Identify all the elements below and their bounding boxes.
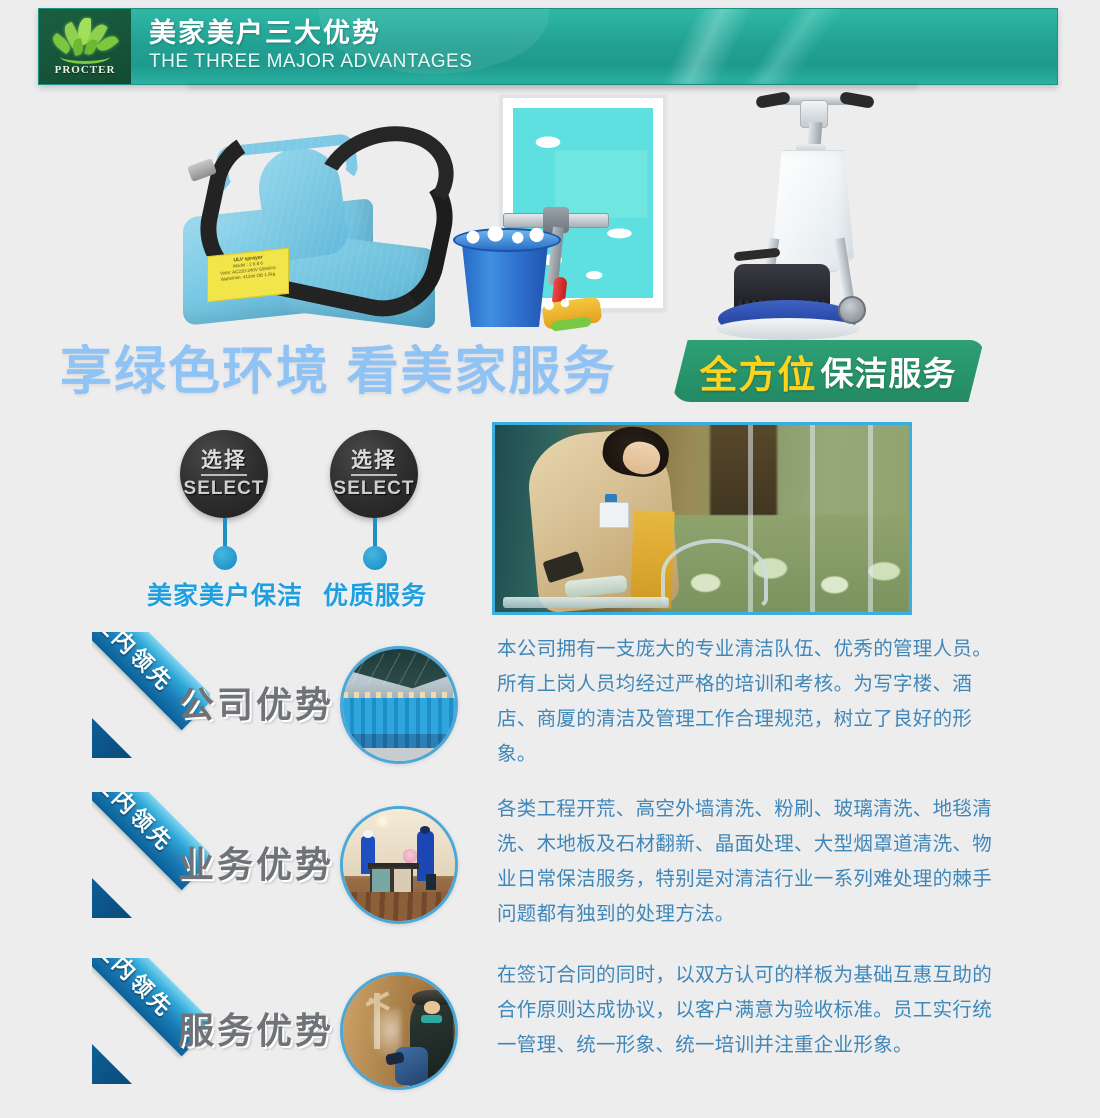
hero-photo [492, 422, 912, 615]
header-sheen-secondary-icon [597, 9, 897, 85]
advantage-row-2: 业内领先 业务优势 各类工程开荒、高空外墙清洗、粉刷、玻璃清洗、地毯清洗、木地板… [0, 792, 1100, 952]
ribbon-text: 业内领先 [92, 632, 182, 698]
select-cn-text: 选择 [201, 449, 247, 476]
select-cn-text: 选择 [351, 449, 397, 476]
pin-dot-icon [363, 546, 387, 570]
advantage-row-1: 业内领先 公司优势 本公司拥有一支庞大的专业清洁队伍、优秀的管理人员。所有上岗人… [0, 632, 1100, 792]
select-marker-1: 选择 SELECT 美家美户保洁 [180, 430, 270, 518]
service-badge: 全方位 保洁服务 [672, 340, 984, 402]
select-badge-icon: 选择 SELECT [180, 430, 268, 518]
select-en-text: SELECT [334, 478, 415, 500]
header-text-group: 美家美户三大优势 THE THREE MAJOR ADVANTAGES [149, 18, 472, 74]
ribbon-text: 业内领先 [92, 792, 182, 858]
pin-dot-icon [213, 546, 237, 570]
advantage-row-3: 业内领先 服务优势 在签订合同的同时，以双方认可的样板为基础互惠互助的合作原则达… [0, 958, 1100, 1118]
ribbon-text: 业内领先 [92, 958, 182, 1024]
header-title-en: THE THREE MAJOR ADVANTAGES [149, 50, 472, 74]
header-title-cn: 美家美户三大优势 [149, 18, 472, 48]
select-label-2: 优质服务 [323, 576, 427, 612]
polisher-wheel-icon [838, 296, 866, 324]
product-image-window-cleaning [455, 95, 675, 330]
advantage-text-3: 在签订合同的同时，以双方认可的样板为基础互惠互助的合作原则达成协议，以客户满意为… [497, 958, 1007, 1063]
advantage-text-1: 本公司拥有一支庞大的专业清洁队伍、优秀的管理人员。所有上岗人员均经过严格的培训和… [497, 632, 1007, 772]
page-header: PROCTER 美家美户三大优势 THE THREE MAJOR ADVANTA… [38, 8, 1056, 86]
select-label-1: 美家美户保洁 [147, 576, 303, 612]
advantage-photo-2 [340, 806, 458, 924]
advantage-photo-3 [340, 972, 458, 1090]
select-badge-icon: 选择 SELECT [330, 430, 418, 518]
logo-wordmark: PROCTER [55, 64, 116, 76]
leaf-crown-icon [54, 18, 116, 62]
badge-rest-text: 保洁服务 [821, 347, 957, 395]
badge-highlight-text: 全方位 [699, 344, 816, 399]
product-image-ulv-sprayer: ULV sprayer Model : 2 6 8 6 Volts: AC220… [165, 100, 435, 330]
advantage-text-2: 各类工程开荒、高空外墙清洗、粉刷、玻璃清洗、地毯清洗、木地板及石材翻新、晶面处理… [497, 792, 1007, 932]
advantage-photo-1 [340, 646, 458, 764]
brand-logo: PROCTER [39, 9, 131, 84]
select-marker-2: 选择 SELECT 优质服务 [330, 430, 420, 518]
sprayer-spec-label: ULV sprayer Model : 2 6 8 6 Volts: AC220… [207, 248, 289, 303]
product-image-floor-polisher [712, 88, 917, 333]
main-slogan: 享绿色环境 看美家服务 [60, 340, 660, 404]
select-en-text: SELECT [184, 478, 265, 500]
header-bar: PROCTER 美家美户三大优势 THE THREE MAJOR ADVANTA… [38, 8, 1058, 85]
